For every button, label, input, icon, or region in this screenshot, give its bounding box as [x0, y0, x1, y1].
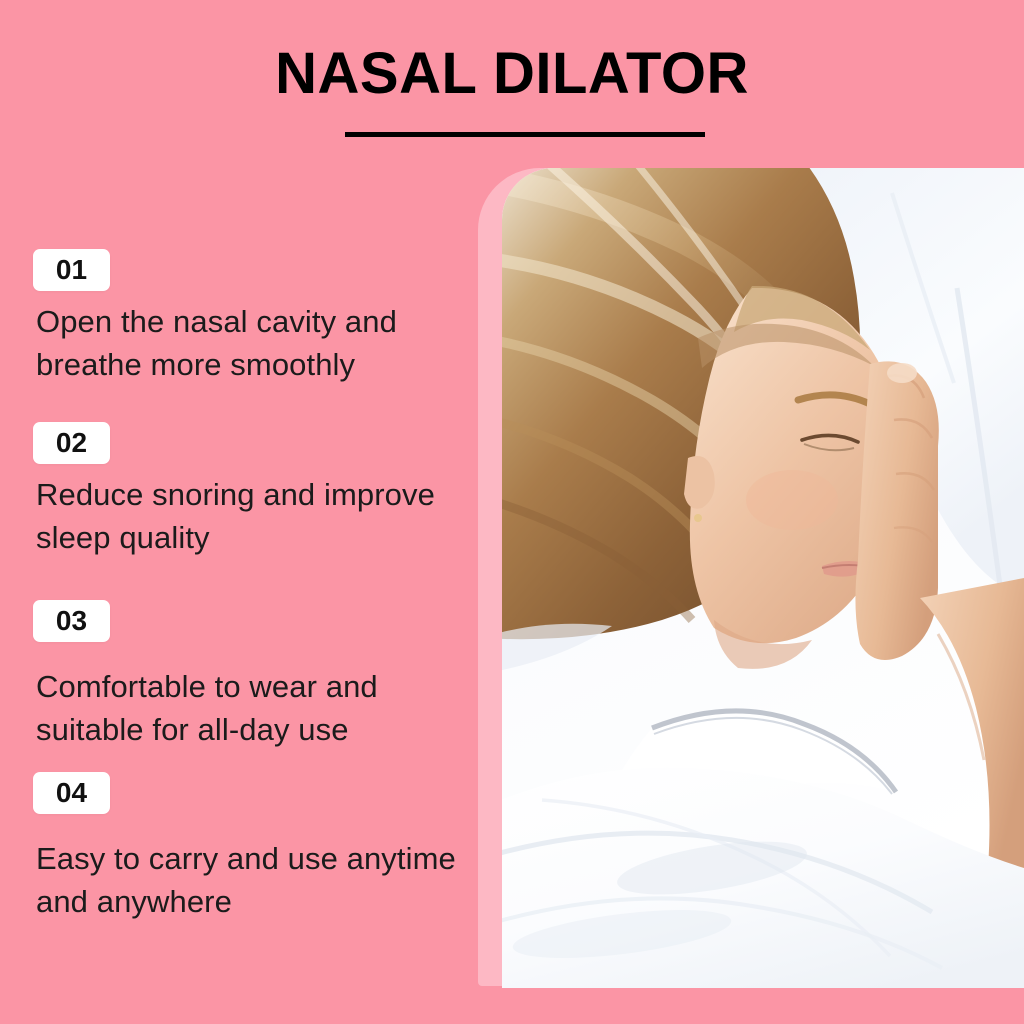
feature-text: Reduce snoring and improve sleep quality [36, 474, 473, 559]
feature-text: Easy to carry and use anytime and anywhe… [36, 838, 473, 923]
photo-illustration [502, 168, 1024, 988]
list-item: 03 Comfortable to wear and suitable for … [33, 600, 473, 751]
header: NASAL DILATOR [0, 44, 1024, 105]
list-item: 04 Easy to carry and use anytime and any… [33, 772, 473, 923]
sleeping-woman-photo [502, 168, 1024, 988]
feature-number-badge: 01 [33, 249, 110, 291]
feature-number-badge: 04 [33, 772, 110, 814]
title-underline [345, 132, 705, 137]
page-title: NASAL DILATOR [0, 44, 1024, 105]
feature-text: Open the nasal cavity and breathe more s… [36, 301, 473, 386]
feature-text: Comfortable to wear and suitable for all… [36, 666, 473, 751]
list-item: 01 Open the nasal cavity and breathe mor… [33, 249, 473, 386]
list-item: 02 Reduce snoring and improve sleep qual… [33, 422, 473, 559]
feature-number-badge: 02 [33, 422, 110, 464]
feature-number-badge: 03 [33, 600, 110, 642]
